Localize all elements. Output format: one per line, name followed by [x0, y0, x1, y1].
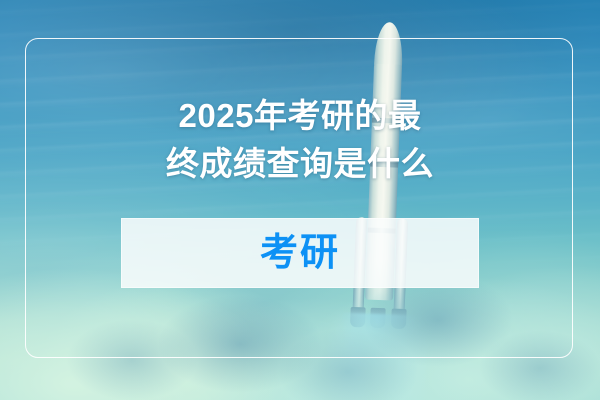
- headline-text: 2025年考研的最 终成绩查询是什么: [0, 92, 600, 188]
- keyword-banner: 考研: [121, 218, 479, 288]
- keyword-banner-label: 考研: [260, 234, 340, 272]
- promotional-banner-image: 2025年考研的最 终成绩查询是什么 考研: [0, 0, 600, 400]
- smoke-shadow-layer: [0, 0, 600, 400]
